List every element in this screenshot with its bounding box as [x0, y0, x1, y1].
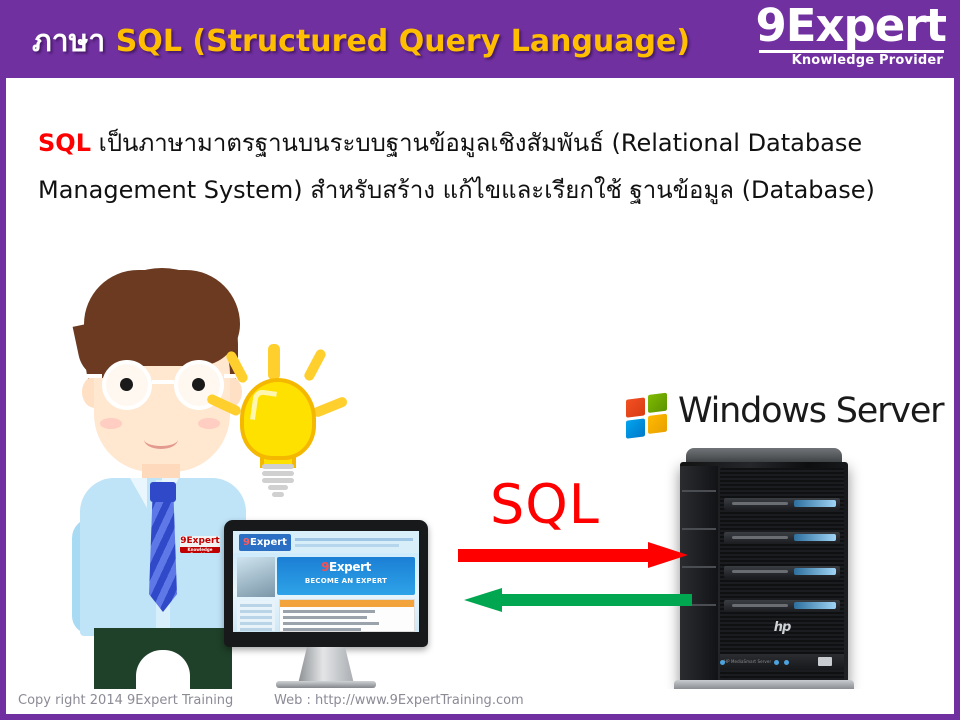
- brand-logo: 9Expert Knowledge Provider: [738, 6, 946, 72]
- lightbulb-ray-5: [311, 396, 348, 419]
- lightbulb-highlight: [250, 389, 277, 423]
- client-monitor: 9Expert 9Expert BECOME AN EXPERT: [224, 520, 428, 690]
- windows-server-logo: Windows Server: [626, 391, 896, 447]
- paragraph-highlight: SQL: [38, 129, 91, 157]
- website-nav-line-2: [295, 544, 399, 547]
- sql-flow-label: SQL: [490, 476, 600, 534]
- website-hero-subtitle: BECOME AN EXPERT: [277, 577, 415, 585]
- website-hero-banner: 9Expert BECOME AN EXPERT: [277, 557, 415, 595]
- brand-logo-tagline: Knowledge Provider: [792, 53, 943, 68]
- slide-body: SQL เป็นภาษามาตรฐานบนระบบฐานข้อมูลเชิงสั…: [6, 78, 954, 714]
- website-course-panel-header: [280, 600, 414, 607]
- windows-server-wordmark: Windows Server: [678, 391, 943, 431]
- monitor-stand-neck: [298, 647, 354, 684]
- monitor-screen: 9Expert 9Expert BECOME AN EXPERT: [233, 531, 419, 632]
- server-tower: hp HP MediaSmart Server: [674, 448, 854, 713]
- server-drive-bay-1: [724, 498, 840, 510]
- lightbulb-screw-base: [262, 464, 294, 496]
- page-title-english: SQL (Structured Query Language): [116, 24, 690, 59]
- brand-logo-word: 9Expert: [738, 0, 946, 52]
- website-hero-title: 9Expert: [277, 560, 415, 574]
- request-arrow-icon: [458, 542, 688, 568]
- website-hero-suffix: Expert: [329, 560, 371, 574]
- website-sidebar: [237, 601, 275, 631]
- character-eye-left: [120, 378, 133, 391]
- character-necktie-knot: [150, 482, 176, 502]
- server-drive-bay-2: [724, 532, 840, 544]
- website-hero-prefix: 9: [321, 560, 329, 574]
- website-nav-line-1: [295, 538, 413, 541]
- glasses-bridge: [152, 380, 174, 384]
- website-topbar: 9Expert: [233, 531, 419, 553]
- website-logo-prefix: 9: [243, 537, 250, 548]
- lightbulb-ray-3: [268, 344, 280, 380]
- monitor-bezel: 9Expert 9Expert BECOME AN EXPERT: [224, 520, 428, 647]
- lightbulb-ray-2: [225, 350, 250, 385]
- monitor-stand-base: [276, 681, 376, 688]
- response-arrow-icon: [464, 588, 692, 612]
- character-necktie: [149, 500, 177, 612]
- server-drive-bay-4: [724, 600, 840, 612]
- character-brand-badge: 9Expert Knowledge Provider: [180, 536, 220, 553]
- hp-logo: hp: [720, 620, 844, 635]
- slide-header: ภาษา SQL (Structured Query Language) 9Ex…: [0, 0, 960, 78]
- character-blush-left: [100, 418, 122, 429]
- paragraph-text: เป็นภาษามาตรฐานบนระบบฐานข้อมูลเชิงสัมพัน…: [38, 129, 875, 204]
- character-eyebrow-left: [110, 354, 140, 371]
- body-paragraph: SQL เป็นภาษามาตรฐานบนระบบฐานข้อมูลเชิงสั…: [38, 120, 908, 214]
- slide: ภาษา SQL (Structured Query Language) 9Ex…: [0, 0, 960, 720]
- website-logo: 9Expert: [239, 534, 291, 551]
- windows-flag-icon: [626, 394, 670, 441]
- server-front-mesh: [720, 468, 844, 680]
- server-drive-bay-3: [724, 566, 840, 578]
- footer-website: Web : http://www.9ExpertTraining.com: [274, 693, 524, 708]
- lightbulb-icon: [194, 344, 344, 499]
- website-logo-suffix: Expert: [250, 537, 287, 548]
- character-badge-bottom: Knowledge Provider: [180, 547, 220, 553]
- sql-flow-diagram: SQL: [458, 476, 698, 626]
- website-photo: [237, 557, 275, 597]
- server-model-label: HP MediaSmart Server: [724, 659, 771, 664]
- lightbulb-ray-4: [303, 348, 328, 383]
- lightbulb-ray-1: [206, 393, 243, 417]
- character-mouth: [144, 430, 178, 449]
- website-course-panel: [279, 599, 415, 632]
- page-title-thai: ภาษา: [32, 24, 105, 59]
- server-usb-port: [818, 657, 832, 666]
- page-title: ภาษา SQL (Structured Query Language): [32, 18, 690, 65]
- server-front-panel: HP MediaSmart Server: [720, 654, 844, 670]
- footer-copyright: Copy right 2014 9Expert Training: [18, 693, 233, 708]
- character-collar-left: [130, 478, 147, 508]
- character-badge-top: 9Expert: [180, 536, 220, 546]
- slide-footer: Copy right 2014 9Expert Training Web : h…: [6, 689, 954, 714]
- glasses-temple-left: [84, 374, 102, 378]
